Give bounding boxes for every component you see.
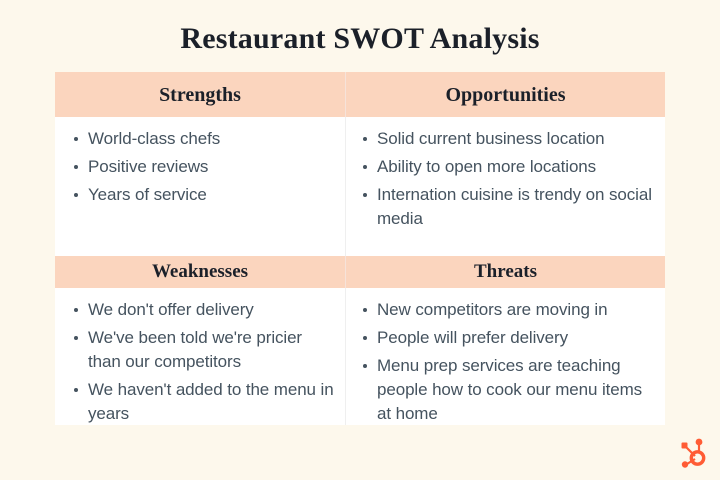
list-item: Ability to open more locations	[358, 155, 655, 179]
quadrant-header-opportunities-label: Opportunities	[445, 84, 565, 106]
swot-analysis-page: Restaurant SWOT Analysis Strengths Oppor…	[0, 0, 720, 480]
list-item: We don't offer delivery	[65, 298, 335, 322]
quadrant-body-weaknesses: We don't offer delivery We've been told …	[55, 288, 345, 425]
list-item: We've been told we're pricier than our c…	[65, 326, 335, 374]
quadrant-header-threats-label: Threats	[474, 261, 537, 283]
quadrant-body-strengths: World-class chefs Positive reviews Years…	[55, 117, 345, 256]
list-item: Solid current business location	[358, 127, 655, 151]
list-item: Years of service	[65, 183, 335, 207]
quadrant-header-threats: Threats	[345, 256, 665, 288]
list-item: World-class chefs	[65, 127, 335, 151]
quadrant-header-weaknesses-label: Weaknesses	[152, 261, 248, 283]
threats-list: New competitors are moving in People wil…	[358, 298, 655, 425]
quadrant-header-weaknesses: Weaknesses	[55, 256, 345, 288]
list-item: New competitors are moving in	[358, 298, 655, 322]
quadrant-body-threats: New competitors are moving in People wil…	[345, 288, 665, 425]
list-item: Positive reviews	[65, 155, 335, 179]
list-item: People will prefer delivery	[358, 326, 655, 350]
quadrant-body-opportunities: Solid current business location Ability …	[345, 117, 665, 256]
strengths-list: World-class chefs Positive reviews Years…	[65, 127, 335, 207]
list-item: Internation cuisine is trendy on social …	[358, 183, 655, 231]
hubspot-sprocket-logo	[678, 437, 708, 469]
swot-grid: Strengths Opportunities World-class chef…	[55, 72, 665, 425]
quadrant-header-strengths: Strengths	[55, 72, 345, 117]
quadrant-header-strengths-label: Strengths	[159, 84, 241, 106]
weaknesses-list: We don't offer delivery We've been told …	[65, 298, 335, 425]
list-item: Menu prep services are teaching people h…	[358, 354, 655, 425]
quadrant-header-opportunities: Opportunities	[345, 72, 665, 117]
list-item: We haven't added to the menu in years	[65, 378, 335, 425]
page-title: Restaurant SWOT Analysis	[0, 21, 720, 57]
opportunities-list: Solid current business location Ability …	[358, 127, 655, 231]
